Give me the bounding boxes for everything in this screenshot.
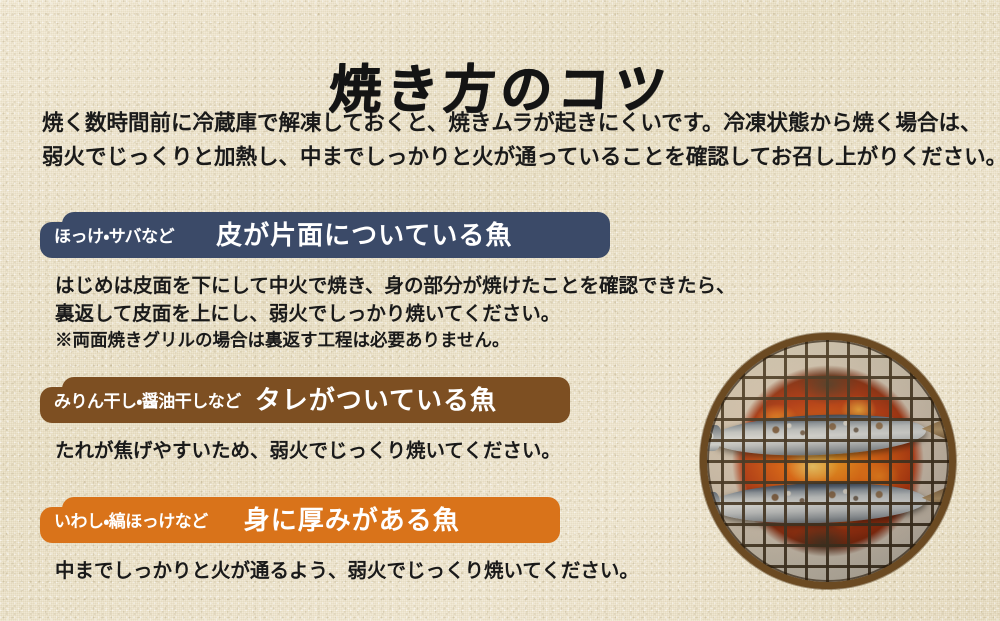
- section-3-main-label: 身に厚みがある魚: [244, 508, 460, 534]
- section-2-sub-label: みりん干し・醤油干しなど: [54, 394, 241, 411]
- section-thick-flesh: いわし・縞ほっけなど 身に厚みがある魚 中までしっかりと火が通るよう、弱火でじっ…: [40, 497, 560, 585]
- section-3-body-line-1: 中までしっかりと火が通るよう、弱火でじっくり焼いてください。: [55, 557, 560, 585]
- section-with-sauce: みりん干し・醤油干しなど タレがついている魚 たれが焦げやすいため、弱火でじっく…: [40, 377, 570, 465]
- section-2-body: たれが焦げやすいため、弱火でじっくり焼いてください。: [55, 437, 570, 465]
- intro-paragraph: 焼く数時間前に冷蔵庫で解凍しておくと、焼きムラが起きにくいです。冷凍状態から焼く…: [42, 107, 962, 175]
- section-1-main-label: 皮が片面についている魚: [216, 223, 512, 249]
- section-1-body-line-2: 裏返して皮面を上にし、弱火でしっかり焼いてください。: [55, 300, 610, 328]
- section-1-sub-label: ほっけ・サバなど: [54, 229, 174, 246]
- section-skin-one-side: ほっけ・サバなど 皮が片面についている魚 はじめは皮面を下にして中火で焼き、身の…: [40, 212, 610, 355]
- banner-label-group: みりん干し・醤油干しなど タレがついている魚: [40, 377, 570, 423]
- section-1-note: ※両面焼きグリルの場合は裏返す工程は必要ありません。: [55, 328, 610, 355]
- intro-line-2: 弱火でじっくりと加熱し、中までしっかりと火が通っていることを確認してお召し上がり…: [42, 141, 962, 175]
- section-1-banner: ほっけ・サバなど 皮が片面についている魚: [40, 212, 610, 258]
- section-2-banner: みりん干し・醤油干しなど タレがついている魚: [40, 377, 570, 423]
- section-2-body-line-1: たれが焦げやすいため、弱火でじっくり焼いてください。: [55, 437, 570, 465]
- section-3-sub-label: いわし・縞ほっけなど: [54, 514, 208, 531]
- infographic-page: 焼き方のコツ 焼く数時間前に冷蔵庫で解凍しておくと、焼きムラが起きにくいです。冷…: [0, 0, 1000, 621]
- section-1-body: はじめは皮面を下にして中火で焼き、身の部分が焼けたことを確認できたら、 裏返して…: [55, 272, 610, 355]
- banner-label-group: ほっけ・サバなど 皮が片面についている魚: [40, 212, 610, 258]
- intro-line-1: 焼く数時間前に冷蔵庫で解凍しておくと、焼きムラが起きにくいです。冷凍状態から焼く…: [42, 107, 962, 141]
- banner-label-group: いわし・縞ほっけなど 身に厚みがある魚: [40, 497, 560, 543]
- section-3-body: 中までしっかりと火が通るよう、弱火でじっくり焼いてください。: [55, 557, 560, 585]
- grill-rim: [700, 333, 956, 589]
- grilled-saury-photo: [700, 333, 956, 589]
- section-3-banner: いわし・縞ほっけなど 身に厚みがある魚: [40, 497, 560, 543]
- section-1-body-line-1: はじめは皮面を下にして中火で焼き、身の部分が焼けたことを確認できたら、: [55, 272, 610, 300]
- section-2-main-label: タレがついている魚: [255, 388, 497, 414]
